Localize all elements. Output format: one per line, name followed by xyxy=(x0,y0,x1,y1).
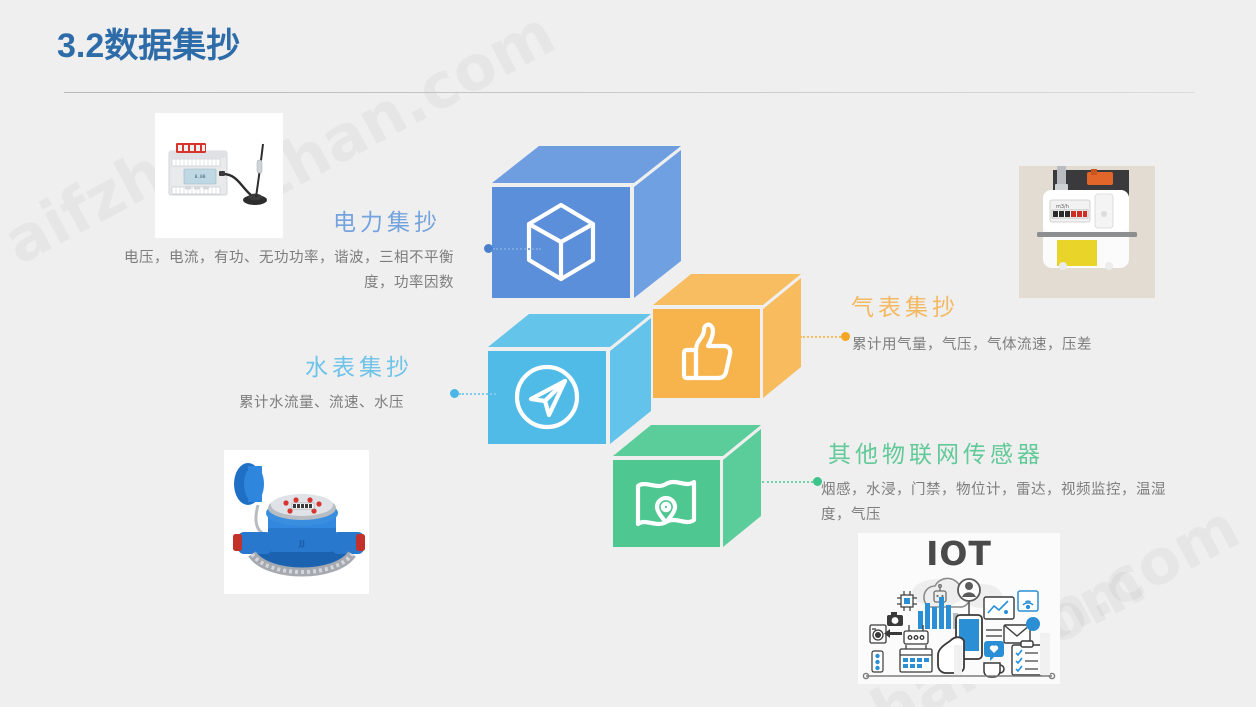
description-gas: 累计用气量，气压，气体流速，压差 xyxy=(852,333,1192,358)
gas-meter-photo: m3/h xyxy=(1019,166,1155,298)
water-meter-photo: JJ xyxy=(224,450,369,594)
connector-line xyxy=(459,393,496,395)
cube-gas[interactable] xyxy=(650,271,802,405)
description-water: 累计水流量、流速、水压 xyxy=(150,391,404,416)
connector-dot xyxy=(484,244,493,253)
svg-text:0.00: 0.00 xyxy=(195,174,206,180)
svg-text:m3/h: m3/h xyxy=(1056,204,1069,210)
svg-text:JJ: JJ xyxy=(298,539,305,548)
connector-line xyxy=(800,336,841,338)
title-divider xyxy=(64,92,1194,93)
connector-gas xyxy=(800,331,850,342)
connector-water xyxy=(450,388,496,399)
heading-gas: 气表集抄 xyxy=(851,288,959,322)
connector-other xyxy=(762,476,822,487)
electric-meter-photo: 0.00 xyxy=(155,113,283,238)
slide-canvas: aifzhan zhan.com an.com aifzhan.com 3.2数… xyxy=(0,0,1256,707)
svg-text:IOT: IOT xyxy=(926,534,992,573)
description-electric: 电压，电流，有功、无功功率，谐波，三相不平衡度，功率因数 xyxy=(110,246,454,296)
connector-electric xyxy=(484,243,541,254)
heading-electric: 电力集抄 xyxy=(333,203,441,237)
iot-illustration-photo: IOT xyxy=(858,533,1060,684)
connector-line xyxy=(762,481,813,483)
connector-line xyxy=(493,248,541,250)
heading-water: 水表集抄 xyxy=(305,348,413,382)
page-title: 3.2数据集抄 xyxy=(57,22,240,70)
cube-other[interactable] xyxy=(610,422,762,554)
connector-dot xyxy=(841,332,850,341)
heading-other: 其他物联网传感器 xyxy=(828,435,1044,469)
connector-dot xyxy=(450,389,459,398)
description-other: 烟感，水浸，门禁，物位计，雷达，视频监控，温湿度，气压 xyxy=(821,478,1179,528)
